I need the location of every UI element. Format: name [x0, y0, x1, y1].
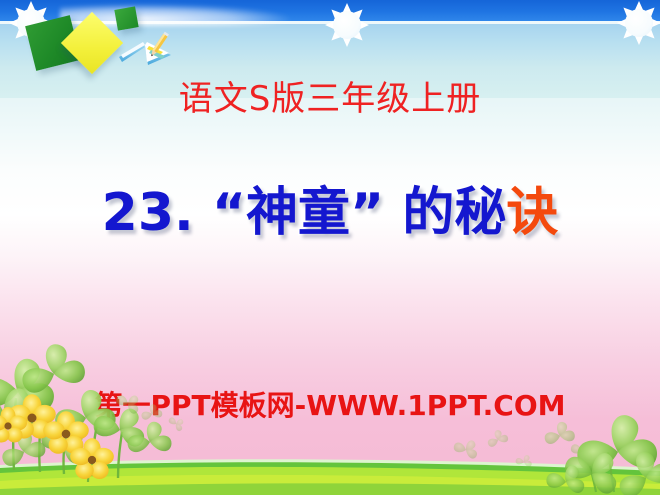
page-subtitle: 语文S版三年级上册: [0, 79, 660, 119]
open-book-icon: [116, 31, 174, 69]
grass-hills: [0, 455, 660, 495]
sun-icon: [612, 0, 660, 50]
presentation-slide: 语文S版三年级上册 23. “神童” 的秘诀 第一PPT模板网-WWW.1PPT…: [0, 0, 660, 495]
page-title-main: 23. “神童” 的秘: [102, 183, 507, 243]
sun-icon: [320, 0, 374, 52]
page-title: 23. “神童” 的秘诀: [0, 183, 660, 243]
watermark-text: 第一PPT模板网-WWW.1PPT.COM: [0, 389, 660, 423]
green-square-small-icon: [114, 6, 138, 30]
page-title-accent: 诀: [506, 183, 558, 243]
